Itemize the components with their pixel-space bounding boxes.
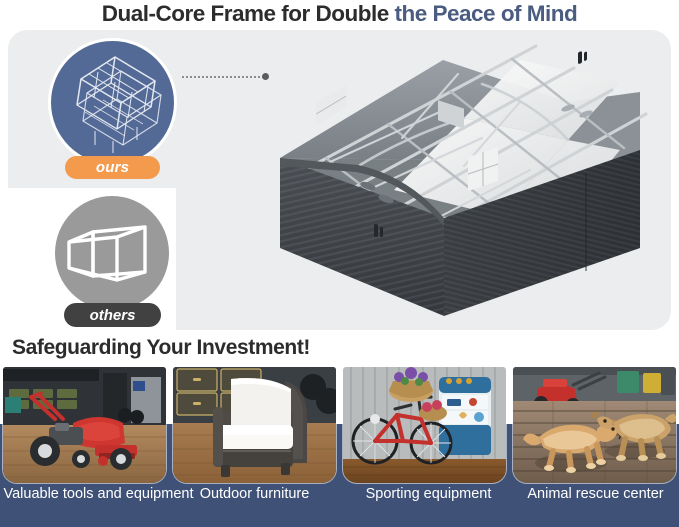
red-walk-behind-mower-image: [3, 367, 166, 483]
red-bicycle-image: [343, 367, 506, 483]
others-badge: others: [64, 303, 161, 327]
metal-shed-3d-illustration: [268, 40, 668, 325]
others-badge-circle: [55, 196, 169, 310]
usecase-photo-animals: [513, 367, 676, 483]
others-badge-label: others: [90, 307, 136, 324]
simple-box-frame-wireframe-icon: [55, 196, 169, 310]
usecase-caption-2: Sporting equipment: [340, 486, 517, 506]
shed-render: [268, 40, 668, 325]
two-dogs-on-deck-image: [513, 367, 676, 483]
usecase-photo-furniture: [173, 367, 336, 483]
wicker-armchair-image: [173, 367, 336, 483]
headline-accent: the Peace of Mind: [395, 1, 578, 26]
section-title: Safeguarding Your Investment!: [12, 336, 310, 362]
usecase-photo-row: [0, 367, 679, 483]
ours-badge-label: ours: [96, 159, 129, 176]
connector-line: [182, 76, 264, 78]
dual-core-roof-frame-wireframe-icon: [51, 41, 174, 164]
ours-badge: ours: [65, 156, 160, 179]
headline-lead: Dual-Core Frame for Double: [102, 1, 395, 26]
ours-badge-circle: [51, 41, 174, 164]
usecase-photo-sporting: [343, 367, 506, 483]
usecase-caption-3: Animal rescue center: [512, 486, 679, 506]
page-title: Dual-Core Frame for Double the Peace of …: [0, 1, 679, 27]
product-feature-graphic: Dual-Core Frame for Double the Peace of …: [0, 0, 679, 527]
connector-dotted-line: [182, 75, 272, 78]
usecase-caption-1: Outdoor furniture: [176, 486, 333, 506]
usecase-photo-tools: [3, 367, 166, 483]
usecase-caption-0: Valuable tools and equipment: [0, 486, 197, 506]
